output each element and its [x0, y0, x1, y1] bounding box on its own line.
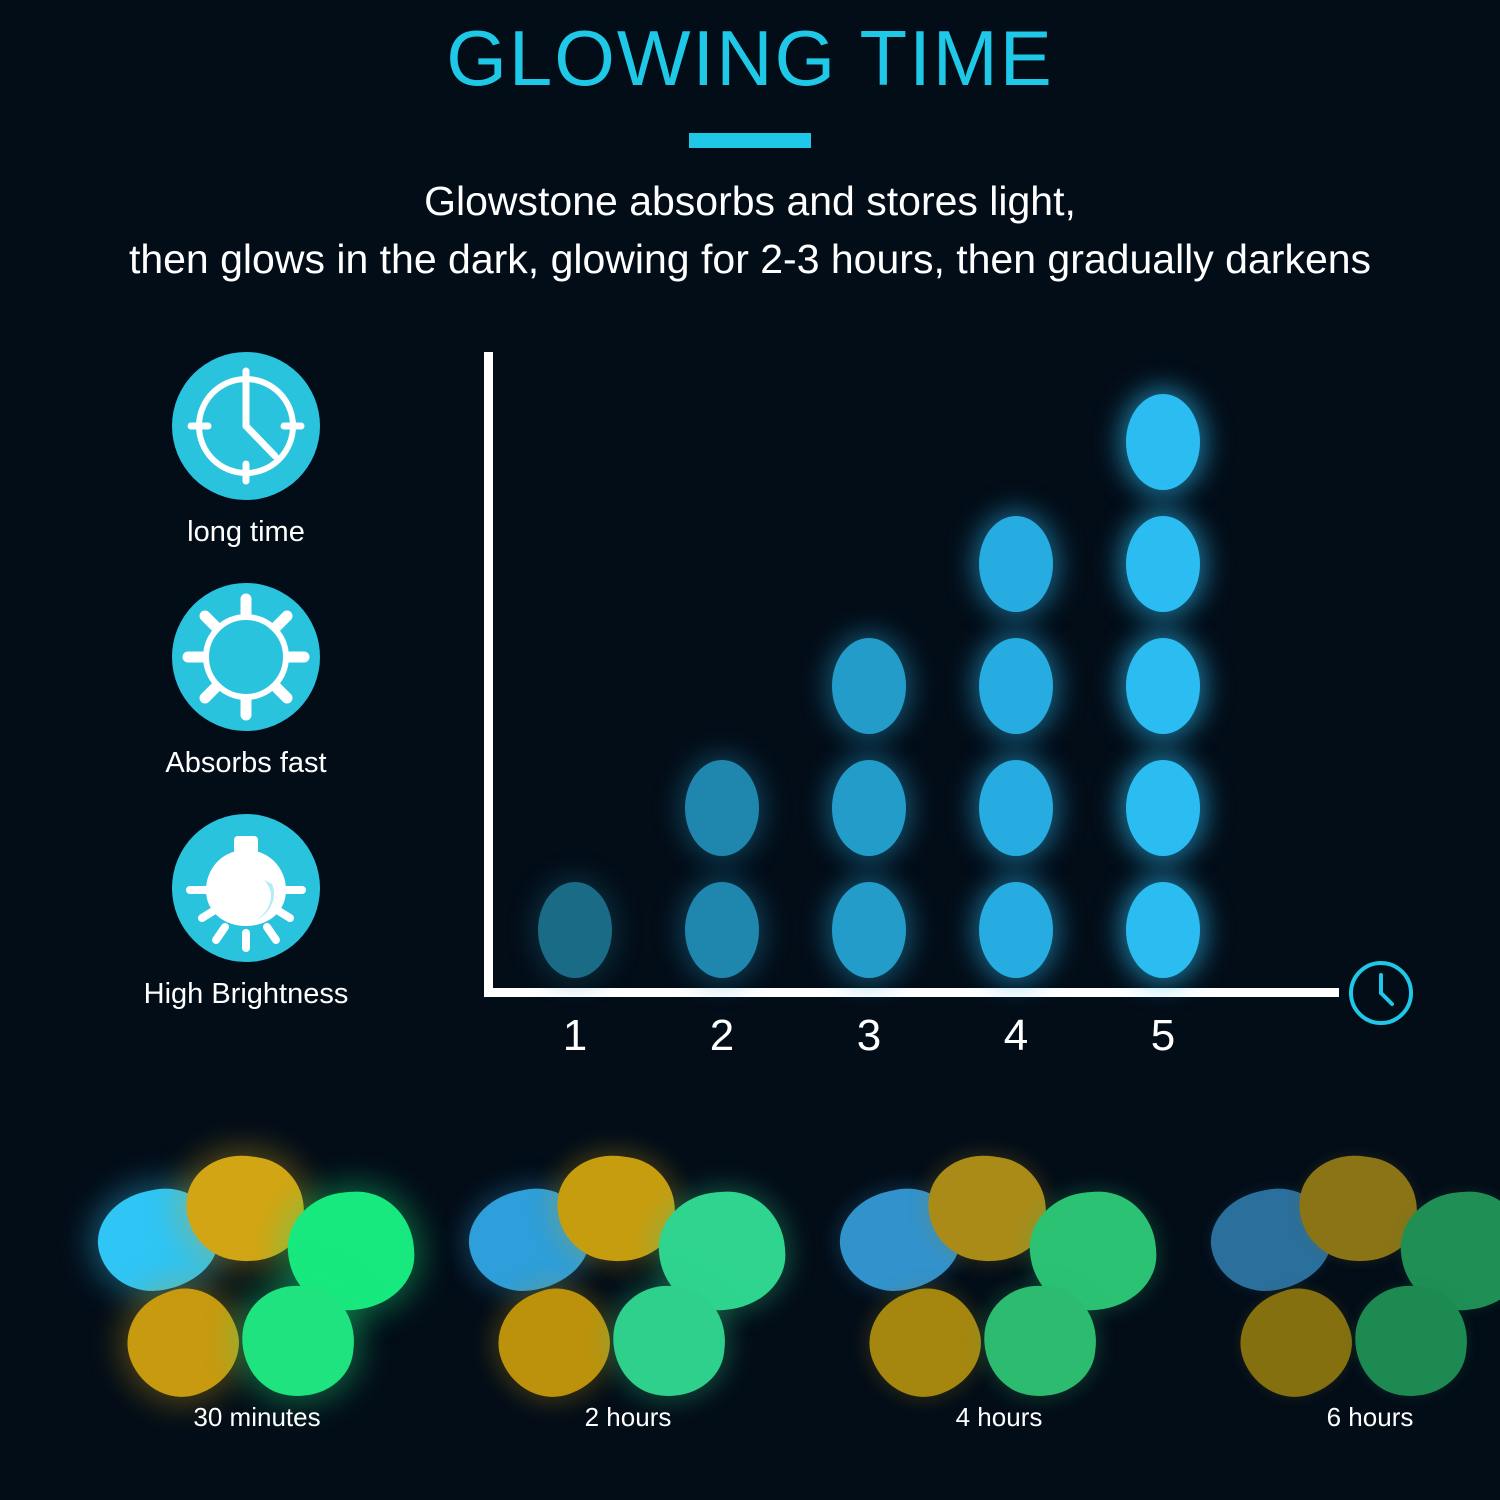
- chart-x-tick-label: 2: [662, 1006, 782, 1066]
- feature-label: long time: [126, 516, 366, 549]
- feature-list: long time Abso: [126, 352, 366, 1031]
- glow-pebble: [1225, 1273, 1367, 1412]
- pebble-pile: [463, 1150, 793, 1400]
- chart-stone: [832, 882, 906, 978]
- glow-pebble: [112, 1273, 254, 1412]
- subtitle-line-2: then glows in the dark, glowing for 2-3 …: [0, 230, 1500, 288]
- chart-stone: [538, 882, 612, 978]
- chart-x-tick-label: 3: [809, 1006, 929, 1066]
- timeline-label: 4 hours: [834, 1402, 1164, 1433]
- pebble-pile: [834, 1150, 1164, 1400]
- glow-pebble: [483, 1273, 625, 1412]
- glow-intensity-chart: 12345: [484, 352, 1424, 1082]
- infographic-page: GLOWING TIME Glowstone absorbs and store…: [0, 0, 1500, 1500]
- feature-label: Absorbs fast: [126, 747, 366, 780]
- chart-stone: [685, 760, 759, 856]
- chart-stone: [1126, 882, 1200, 978]
- chart-x-tick-label: 4: [956, 1006, 1076, 1066]
- glow-pebble: [854, 1273, 996, 1412]
- feature-absorbs-fast: Absorbs fast: [126, 583, 366, 780]
- glow-fade-timeline: 30 minutes2 hours4 hours6 hours: [0, 1150, 1500, 1490]
- chart-stone: [1126, 638, 1200, 734]
- chart-y-axis: [484, 352, 493, 997]
- pebble-pile: [1205, 1150, 1500, 1400]
- chart-column: [809, 638, 929, 988]
- chart-stone: [1126, 394, 1200, 490]
- chart-column: [956, 516, 1076, 988]
- chart-stone: [832, 638, 906, 734]
- clock-icon: [172, 352, 320, 500]
- subtitle-line-1: Glowstone absorbs and stores light,: [0, 172, 1500, 230]
- chart-x-axis: [484, 988, 1339, 997]
- chart-stone: [979, 882, 1053, 978]
- timeline-cluster: 2 hours: [463, 1150, 793, 1490]
- sun-icon: [172, 583, 320, 731]
- feature-icon-disc: [172, 814, 320, 962]
- chart-column: [515, 882, 635, 988]
- timeline-cluster: 6 hours: [1205, 1150, 1500, 1490]
- chart-stone: [832, 760, 906, 856]
- feature-icon-disc: [172, 352, 320, 500]
- timeline-label: 30 minutes: [92, 1402, 422, 1433]
- timeline-cluster: 4 hours: [834, 1150, 1164, 1490]
- chart-stone: [685, 882, 759, 978]
- chart-x-tick-label: 5: [1103, 1006, 1223, 1066]
- title-underline: [689, 133, 811, 148]
- chart-x-tick-labels: 12345: [493, 1006, 1424, 1066]
- timeline-label: 2 hours: [463, 1402, 793, 1433]
- chart-column: [1103, 394, 1223, 988]
- chart-x-tick-label: 1: [515, 1006, 635, 1066]
- timeline-cluster: 30 minutes: [92, 1150, 422, 1490]
- chart-stone: [1126, 516, 1200, 612]
- chart-stone: [979, 760, 1053, 856]
- chart-stone: [1126, 760, 1200, 856]
- chart-stone: [979, 638, 1053, 734]
- feature-long-time: long time: [126, 352, 366, 549]
- lightbulb-icon: [172, 814, 320, 962]
- chart-plot-area: [493, 352, 1424, 988]
- feature-icon-disc: [172, 583, 320, 731]
- page-subtitle: Glowstone absorbs and stores light, then…: [0, 172, 1500, 288]
- page-title: GLOWING TIME: [0, 18, 1500, 100]
- chart-stone: [979, 516, 1053, 612]
- feature-high-brightness: High Brightness: [126, 814, 366, 1011]
- chart-column: [662, 760, 782, 988]
- pebble-pile: [92, 1150, 422, 1400]
- timeline-label: 6 hours: [1205, 1402, 1500, 1433]
- feature-label: High Brightness: [126, 978, 366, 1011]
